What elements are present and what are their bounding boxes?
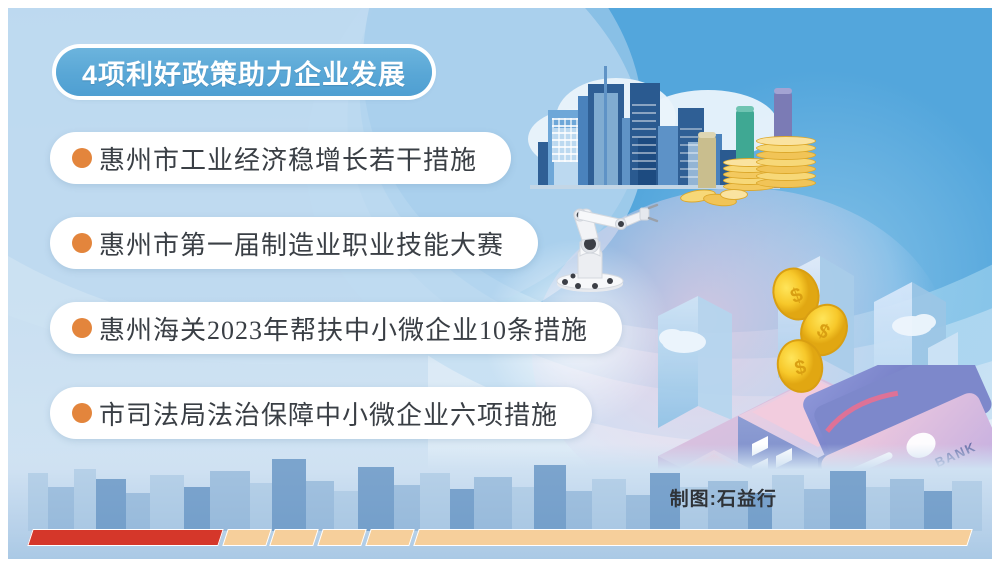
loose-coin-3: [720, 189, 748, 200]
bar-khaki: [698, 136, 716, 188]
progress-segment: [317, 529, 366, 546]
progress-segment: [365, 529, 414, 546]
infographic-poster: $ $ $ $ $: [0, 0, 1000, 571]
progress-segment-filled: [27, 529, 223, 546]
artboard: $ $ $ $ $: [8, 8, 992, 559]
bullet-dot-icon: [72, 318, 92, 338]
bullet-dot-icon: [72, 233, 92, 253]
policy-card-4-label: 市司法局法治保障中小微企业六项措施: [99, 395, 558, 432]
poster-title-text: 4项利好政策助力企业发展: [82, 53, 406, 92]
progress-segment: [413, 529, 973, 546]
progress-bar[interactable]: [30, 530, 970, 545]
bullet-dot-icon: [72, 148, 92, 168]
poster-title: 4项利好政策助力企业发展: [56, 48, 432, 96]
policy-card-2[interactable]: 惠州市第一届制造业职业技能大赛: [50, 217, 538, 269]
policy-card-2-label: 惠州市第一届制造业职业技能大赛: [99, 225, 504, 262]
progress-segment: [270, 529, 319, 546]
bottom-city-strip: [8, 444, 992, 559]
credit-line: 制图:石益行: [670, 484, 777, 511]
progress-segment: [222, 529, 271, 546]
bullet-dot-icon: [72, 403, 92, 423]
policy-card-1-label: 惠州市工业经济稳增长若干措施: [99, 140, 477, 177]
policy-card-1[interactable]: 惠州市工业经济稳增长若干措施: [50, 132, 511, 184]
policy-card-4[interactable]: 市司法局法治保障中小微企业六项措施: [50, 387, 592, 439]
policy-card-3[interactable]: 惠州海关2023年帮扶中小微企业10条措施: [50, 302, 622, 354]
policy-card-3-label: 惠州海关2023年帮扶中小微企业10条措施: [99, 310, 588, 347]
